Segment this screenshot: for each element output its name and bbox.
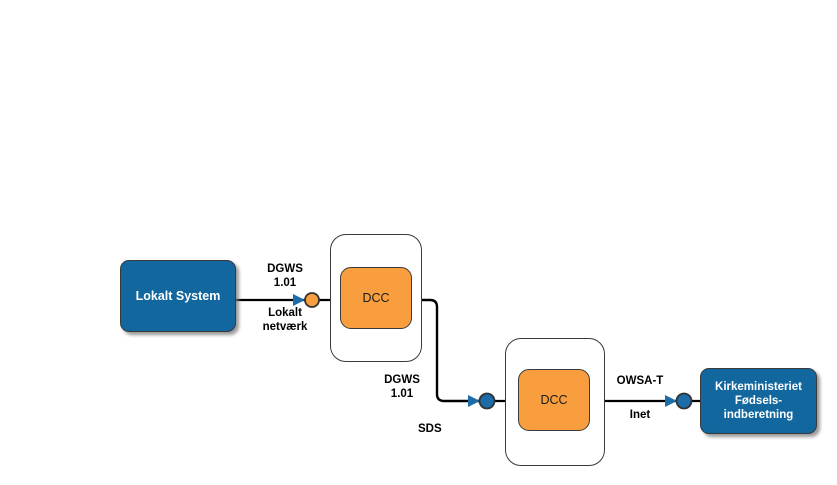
arrowhead-icon-1 — [293, 294, 305, 306]
edge-label-dgws-1-above: DGWS 1.01 — [243, 262, 327, 290]
junction-dot-3 — [677, 394, 692, 409]
edge-label-dgws-2-above: DGWS 1.01 — [370, 373, 434, 401]
node-kirkeministeriet-label-line3: indberetning — [724, 409, 794, 421]
node-dcc-2-label: DCC — [540, 393, 567, 407]
arrowhead-icon-2 — [468, 395, 480, 407]
node-kirkeministeriet-label-line2: Fødsels- — [735, 395, 782, 407]
node-dcc-2[interactable]: DCC — [518, 369, 590, 431]
diagram-canvas: Lokalt System DCC DCC Kirkeministeriet F… — [0, 0, 837, 485]
edge-label-inet: Inet — [605, 408, 675, 422]
junction-dot-1 — [305, 293, 319, 307]
node-lokalt-system-label: Lokalt System — [136, 289, 221, 303]
node-dcc-1-label: DCC — [362, 291, 389, 305]
node-lokalt-system[interactable]: Lokalt System — [120, 260, 236, 332]
node-kirkeministeriet-label-line1: Kirkeministeriet — [715, 381, 802, 393]
node-kirkeministeriet-label-group: Kirkeministeriet Fødsels- indberetning — [701, 380, 816, 422]
node-kirkeministeriet[interactable]: Kirkeministeriet Fødsels- indberetning — [700, 368, 817, 434]
arrowhead-icon-3 — [665, 395, 677, 407]
node-dcc-1[interactable]: DCC — [340, 267, 412, 329]
edge-label-lokalt-netvaerk: Lokalt netværk — [243, 306, 327, 334]
edge-label-owsa-t: OWSA-T — [605, 374, 675, 388]
junction-dot-2 — [480, 394, 495, 409]
edge-label-sds: SDS — [418, 422, 478, 436]
